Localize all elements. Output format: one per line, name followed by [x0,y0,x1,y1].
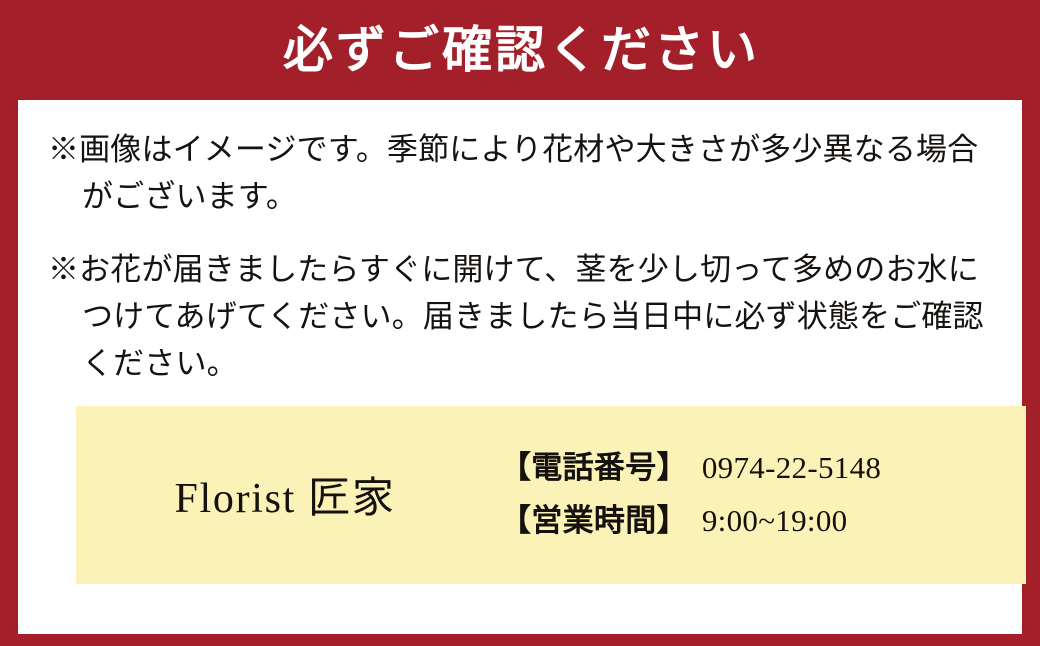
hours-label: 【営業時間】 [500,504,688,538]
notice-body-panel: ※画像はイメージです。季節により花材や大きさが多少異なる場合がございます。 ※お… [18,100,1022,634]
notes-list: ※画像はイメージです。季節により花材や大きさが多少異なる場合がございます。 ※お… [48,126,992,388]
phone-number: 0974-22-5148 [702,451,881,485]
shop-contact-list: 【電話番号】 0974-22-5148 【営業時間】 9:00~19:00 [494,451,1026,537]
notice-header-banner: 必ずご確認ください [0,0,1040,100]
note-item: ※画像はイメージです。季節により花材や大きさが多少異なる場合がございます。 [48,126,992,220]
note-item: ※お花が届きましたらすぐに開けて、茎を少し切って多めのお水につけてあげてください… [48,246,992,387]
page-title: 必ずご確認ください [280,25,760,75]
notice-card: 必ずご確認ください ※画像はイメージです。季節により花材や大きさが多少異なる場合… [0,0,1040,646]
contact-row-hours: 【営業時間】 9:00~19:00 [500,504,1026,538]
shop-info-box: Florist 匠家 【電話番号】 0974-22-5148 【営業時間】 9:… [76,406,1026,584]
phone-label: 【電話番号】 [500,451,688,485]
shop-name: Florist 匠家 [76,464,494,525]
hours-value: 9:00~19:00 [702,504,848,538]
contact-row-phone: 【電話番号】 0974-22-5148 [500,451,1026,485]
